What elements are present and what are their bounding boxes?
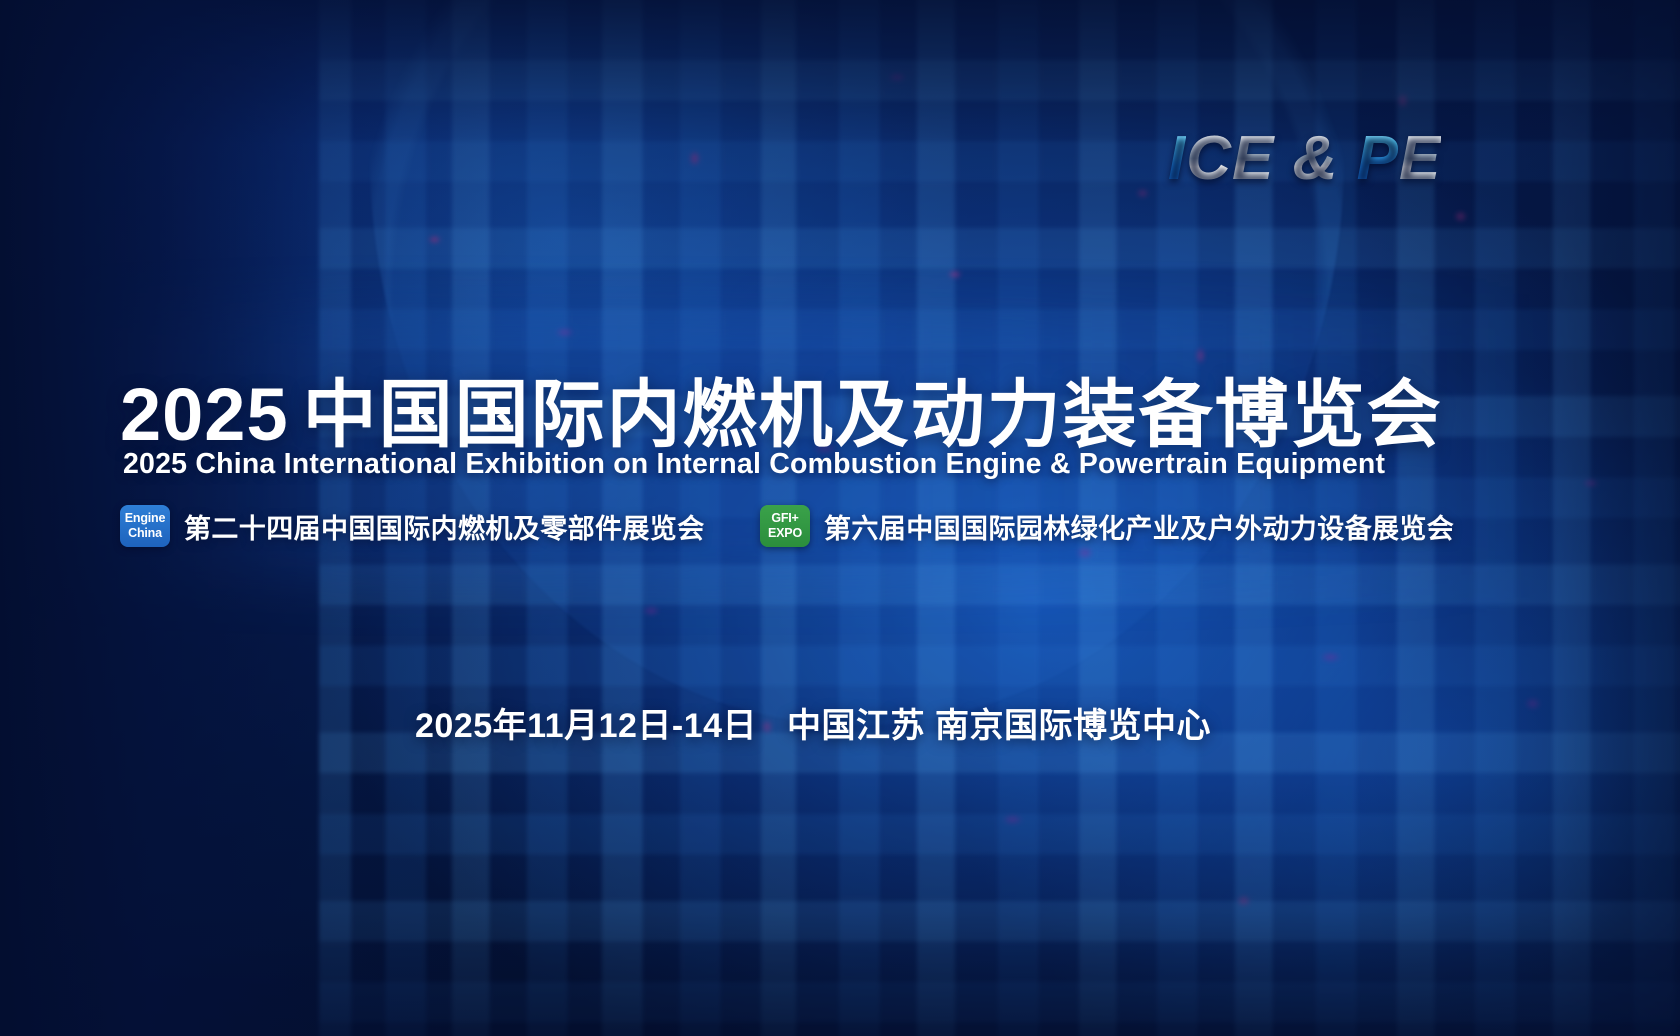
event-poster: ICE & PE 2025中国国际内燃机及动力装备博览会 2025 China … (0, 0, 1680, 1036)
exhibition-row-engine-china: Engine China 第二十四届中国国际内燃机及零部件展览会 (120, 505, 705, 547)
logo-letter-e: E (1399, 124, 1441, 193)
engine-china-badge-icon: Engine China (120, 505, 170, 547)
exhibition-row-gfi-expo: GFI+ EXPO 第六届中国国际园林绿化产业及户外动力设备展览会 (760, 505, 1454, 547)
poster-content: ICE & PE 2025中国国际内燃机及动力装备博览会 2025 China … (0, 0, 1680, 1036)
ice-and-pe-logo: ICE & PE (1168, 128, 1441, 190)
badge-line-2: China (128, 526, 162, 541)
event-date: 2025年11月12日-14日 (415, 707, 757, 745)
event-date-venue: 2025年11月12日-14日中国江苏南京国际博览中心 (415, 698, 1211, 747)
event-venue: 南京国际博览中心 (935, 707, 1211, 745)
exhibition-title-gfi-expo: 第六届中国国际园林绿化产业及户外动力设备展览会 (824, 507, 1454, 546)
headline-year: 2025 (120, 373, 289, 456)
headline-title-cn: 中国国际内燃机及动力装备博览会 (303, 373, 1443, 456)
page-title: 2025中国国际内燃机及动力装备博览会 (120, 355, 1443, 462)
gfi-expo-badge-icon: GFI+ EXPO (760, 505, 810, 547)
logo-letters-ce-amp: CE & (1186, 124, 1356, 193)
exhibition-title-engine-china: 第二十四届中国国际内燃机及零部件展览会 (184, 507, 705, 546)
page-subtitle-en: 2025 China International Exhibition on I… (123, 448, 1385, 481)
badge-line-1: Engine (125, 511, 165, 526)
badge-line-2: EXPO (768, 526, 802, 541)
logo-letter-i: I (1168, 124, 1186, 193)
event-region: 中国江苏 (787, 707, 925, 745)
logo-letter-p: P (1357, 124, 1399, 193)
badge-line-1: GFI+ (771, 511, 798, 526)
